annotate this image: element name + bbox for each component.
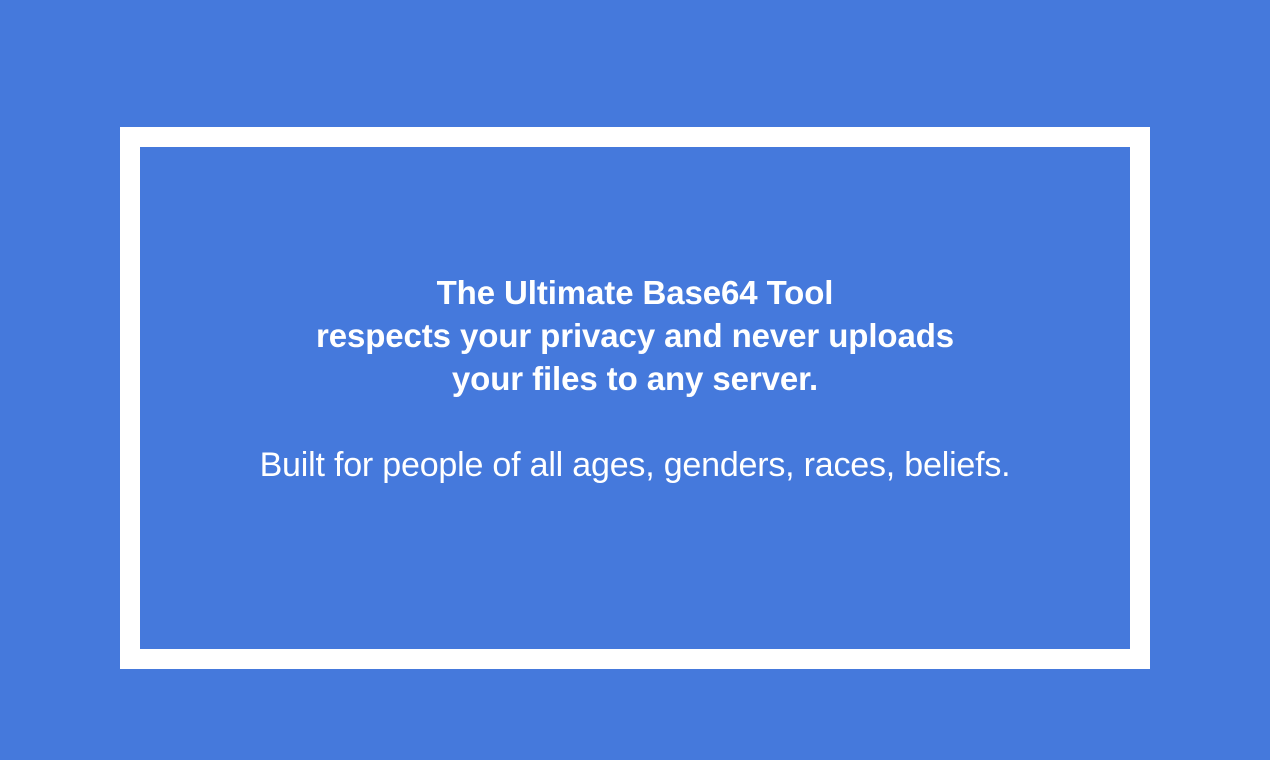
promo-card-panel: The Ultimate Base64 Tool respects your p… <box>140 147 1130 649</box>
promo-subtext: Built for people of all ages, genders, r… <box>260 444 1011 486</box>
promo-headline: The Ultimate Base64 Tool respects your p… <box>316 271 954 400</box>
promo-card-frame: The Ultimate Base64 Tool respects your p… <box>120 127 1150 669</box>
promo-page: The Ultimate Base64 Tool respects your p… <box>0 0 1270 760</box>
promo-headline-line-3: your files to any server. <box>316 357 954 400</box>
promo-headline-line-2: respects your privacy and never uploads <box>316 314 954 357</box>
promo-headline-line-1: The Ultimate Base64 Tool <box>316 271 954 314</box>
